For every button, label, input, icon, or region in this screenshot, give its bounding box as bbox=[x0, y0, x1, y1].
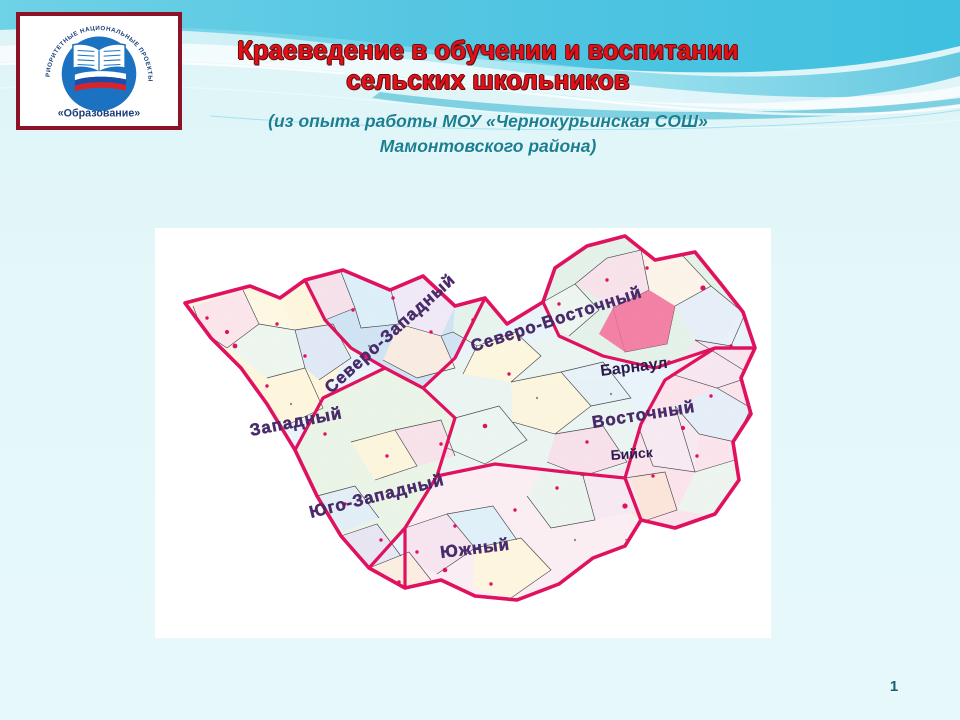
city-label-biysk: Бийск bbox=[610, 444, 654, 463]
slide-canvas: ПРИОРИТЕТНЫЕ НАЦИОНАЛЬНЫЕ ПРОЕКТЫ «Образ… bbox=[0, 0, 960, 720]
altai-krai-districts-map: Северо-Западный Северо-Восточный Западны… bbox=[155, 228, 771, 638]
page-subtitle: (из опыта работы МОУ «Чернокурьинская СО… bbox=[188, 109, 788, 159]
national-project-logo: ПРИОРИТЕТНЫЕ НАЦИОНАЛЬНЫЕ ПРОЕКТЫ «Образ… bbox=[16, 12, 182, 130]
logo-caption: «Образование» bbox=[58, 108, 141, 120]
title-block: Краеведение в обучении и воспитании сель… bbox=[188, 36, 788, 159]
page-number: 1 bbox=[880, 678, 908, 695]
page-title: Краеведение в обучении и воспитании сель… bbox=[188, 36, 788, 96]
